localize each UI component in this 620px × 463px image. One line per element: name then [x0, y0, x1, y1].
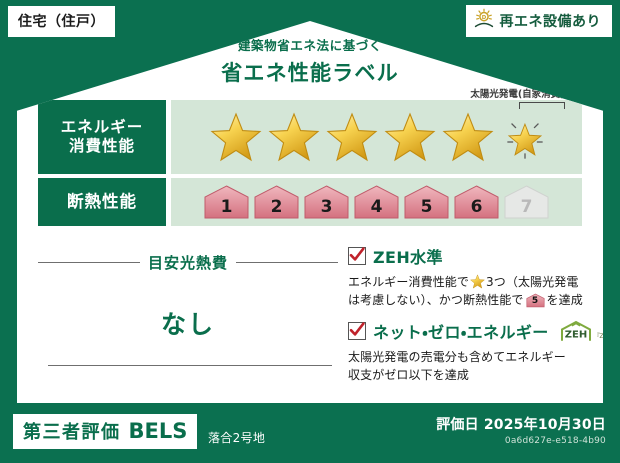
- insulation-level-badge: 1: [203, 184, 250, 220]
- estimated-cost-panel: 目安光熱費 なし: [38, 242, 338, 395]
- star-icon: [268, 112, 320, 162]
- bels-en-label: BELS: [129, 419, 188, 443]
- label-footer: 第三者評価 BELS 落合2号地 評価日 2025年10月30日 0a6d627…: [0, 403, 620, 463]
- renewable-equipment-badge: D 再エネ設備あり: [466, 5, 613, 37]
- star-icon: [326, 112, 378, 162]
- claim-net-zero-energy: ネット・ゼロ・エネルギー ZEH 『ZEH』 太陽光発電の売電分も含めてエネルギ…: [348, 319, 617, 384]
- insulation-level-number: 5: [403, 184, 450, 220]
- label-bottom-section: 目安光熱費 なし ZEH水準 エネルギー消費性能で3つ（太陽光発電: [38, 242, 582, 395]
- claim-zeh-level-head: ZEH水準: [348, 244, 617, 268]
- estimated-cost-base-rule: [48, 365, 332, 366]
- card-title: 建築物省エネ法に基づく 省エネ性能ラベル: [17, 35, 603, 87]
- claim-zeh-level-title: ZEH水準: [373, 244, 443, 268]
- checkbox-checked-icon[interactable]: [348, 322, 366, 340]
- insulation-level-badge-inline: 5: [526, 293, 545, 308]
- insulation-level-badge: 3: [303, 184, 350, 220]
- svg-text:D: D: [481, 15, 486, 21]
- building-type-label: 住宅（住戸）: [18, 14, 105, 30]
- lot-name: 落合2号地: [208, 429, 265, 446]
- claim-zeh-body-part1: エネルギー消費性能で: [348, 275, 469, 289]
- estimated-cost-heading: 目安光熱費: [38, 252, 338, 273]
- card-main-title: 省エネ性能ラベル: [17, 57, 603, 87]
- solar-star-icon: [500, 112, 550, 162]
- insulation-level-badge: 5: [403, 184, 450, 220]
- insulation-label-text: 断熱性能: [67, 192, 137, 213]
- claim-zeh-body-part3: は考慮しない）、かつ断熱性能で: [348, 293, 524, 307]
- insulation-level-badge: 2: [253, 184, 300, 220]
- claims-panel: ZEH水準 エネルギー消費性能で3つ（太陽光発電 は考慮しない）、かつ断熱性能で…: [338, 242, 617, 395]
- zeh-logo-subtext: 『ZEH』: [594, 331, 617, 342]
- insulation-level-badge: 4: [353, 184, 400, 220]
- claim-zeh-body-part2: 3つ（太陽光発電: [486, 275, 578, 289]
- card-subtitle: 建築物省エネ法に基づく: [17, 35, 603, 54]
- star-icon: [384, 112, 436, 162]
- estimated-cost-heading-text: 目安光熱費: [148, 252, 228, 273]
- claim-net-zero-title: ネット・ゼロ・エネルギー: [373, 319, 549, 343]
- claim-net-zero-body: 太陽光発電の売電分も含めてエネルギー 収支がゼロ以下を達成: [348, 348, 617, 384]
- bels-certification-box: 第三者評価 BELS: [13, 414, 197, 449]
- energy-performance-value: 太陽光発電(自家消費)分: [171, 100, 582, 174]
- insulation-level-badge: 6: [453, 184, 500, 220]
- insulation-performance-row: 断熱性能 1 2 3: [38, 178, 582, 226]
- energy-label-line1: エネルギー: [61, 118, 144, 137]
- label-card: 建築物省エネ法に基づく 省エネ性能ラベル エネルギー 消費性能 太陽光発電(自家…: [17, 21, 603, 403]
- building-type-chip: 住宅（住戸）: [8, 6, 115, 37]
- insulation-level-badge: 7: [503, 184, 550, 220]
- evaluation-info: 評価日 2025年10月30日 0a6d627e-e518-4b90: [436, 414, 606, 446]
- insulation-level-scale: 1 2 3 4 5: [203, 184, 550, 220]
- star-icon: [210, 112, 262, 162]
- solar-bracket: [519, 102, 565, 109]
- insulation-level-number: 6: [453, 184, 500, 220]
- insulation-level-number: 1: [203, 184, 250, 220]
- insulation-level-number: 4: [353, 184, 400, 220]
- star-icon: [470, 274, 485, 289]
- insulation-level-number: 2: [253, 184, 300, 220]
- renewable-badge-label: 再エネ設備あり: [500, 11, 602, 31]
- claim-net-zero-body-part2: 収支がゼロ以下を達成: [348, 368, 469, 382]
- zeh-logo-text: ZEH: [564, 330, 586, 341]
- heading-rule-right: [236, 262, 338, 263]
- energy-star-rating: [204, 112, 550, 162]
- claim-net-zero-head: ネット・ゼロ・エネルギー ZEH 『ZEH』: [348, 319, 617, 343]
- heading-rule-left: [38, 262, 140, 263]
- insulation-performance-value: 1 2 3 4 5: [171, 178, 582, 226]
- checkbox-checked-icon[interactable]: [348, 247, 366, 265]
- solar-sun-icon: D: [473, 8, 495, 33]
- insulation-level-number: 3: [303, 184, 350, 220]
- insulation-level-number: 5: [526, 293, 545, 308]
- zeh-house-logo-icon: ZEH 『ZEH』: [559, 320, 617, 342]
- star-icon: [442, 112, 494, 162]
- solar-note-label: 太陽光発電(自家消費)分: [470, 86, 574, 100]
- energy-performance-row: エネルギー 消費性能 太陽光発電(自家消費)分: [38, 100, 582, 174]
- insulation-performance-label: 断熱性能: [38, 178, 166, 226]
- evaluation-date: 評価日 2025年10月30日: [436, 414, 606, 434]
- claim-net-zero-body-part1: 太陽光発電の売電分も含めてエネルギー: [348, 350, 566, 364]
- claim-zeh-body-part4: を達成: [547, 293, 583, 307]
- energy-performance-label: エネルギー 消費性能: [38, 100, 166, 174]
- energy-label-line2: 消費性能: [69, 137, 135, 156]
- performance-section: エネルギー 消費性能 太陽光発電(自家消費)分: [38, 100, 582, 230]
- claim-zeh-level: ZEH水準 エネルギー消費性能で3つ（太陽光発電 は考慮しない）、かつ断熱性能で…: [348, 244, 617, 309]
- estimated-cost-value: なし: [38, 305, 338, 341]
- claim-zeh-level-body: エネルギー消費性能で3つ（太陽光発電 は考慮しない）、かつ断熱性能で5を達成: [348, 273, 617, 309]
- evaluation-id: 0a6d627e-e518-4b90: [436, 436, 606, 446]
- insulation-level-number: 7: [503, 184, 550, 220]
- bels-jp-label: 第三者評価: [23, 418, 121, 444]
